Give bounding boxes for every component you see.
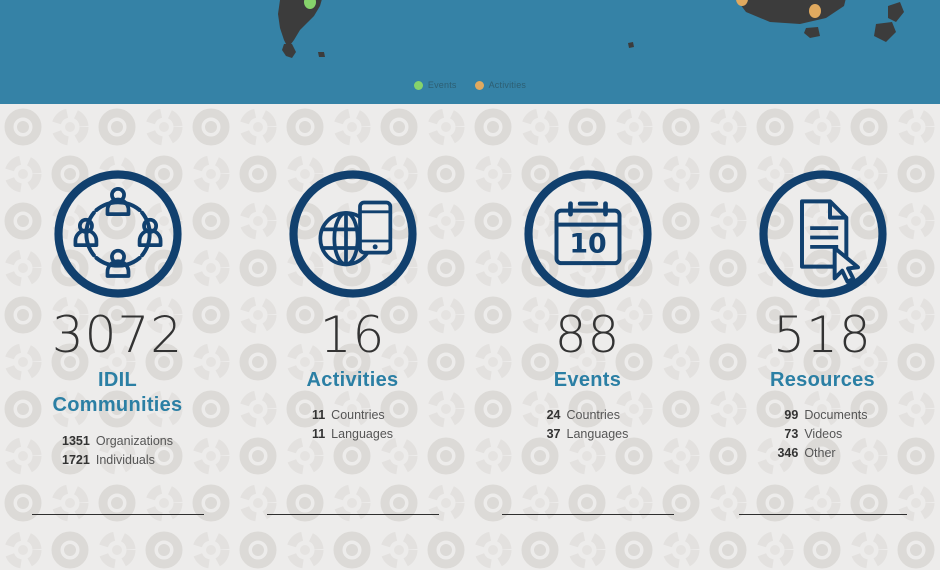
column-divider [502,514,674,515]
stat-card-activities[interactable]: 16 Activities 11 Countries 11 Languages [235,104,470,570]
stat-sub-label: Individuals [96,451,173,470]
stats-dashboard-page: Events Activities [0,0,940,570]
stat-card-idil-communities[interactable]: 3072 IDIL Communities 1351 Organizations… [0,104,235,570]
activity-marker-2 [809,4,821,18]
stat-title: Activities [307,368,399,392]
stat-sub-row: 37 Languages [547,425,629,444]
calendar-day-number: 10 [569,229,606,260]
stat-sub-value: 99 [777,406,804,425]
calendar-icon: 10 [518,164,658,304]
stat-sub-label: Countries [567,406,629,425]
stat-sub-row: 1721 Individuals [62,451,173,470]
stat-sub-value: 1721 [62,451,96,470]
stat-sub-row: 11 Countries [312,406,393,425]
stat-title: Resources [770,368,875,392]
stat-sub-value: 346 [777,444,804,463]
stat-sub-value: 24 [547,406,567,425]
stat-sub-label: Languages [567,425,629,444]
stat-sub-list: 11 Countries 11 Languages [312,406,393,444]
stat-sub-label: Videos [804,425,867,444]
stat-sub-list: 99 Documents 73 Videos 346 Other [777,406,867,463]
stat-title-line-2: Communities [53,393,183,418]
community-network-icon [48,164,188,304]
stat-sub-label: Countries [331,406,393,425]
stat-sub-value: 1351 [62,432,96,451]
stat-sub-label: Languages [331,425,393,444]
stat-sub-row: 24 Countries [547,406,629,425]
stat-sub-value: 73 [777,425,804,444]
stat-sub-row: 1351 Organizations [62,432,173,451]
stat-card-resources[interactable]: 518 Resources 99 Documents 73 Videos 346… [705,104,940,570]
world-map-graphic [0,0,940,104]
stat-title-line-1: IDIL [53,368,183,393]
stat-sub-value: 11 [312,406,331,425]
world-map-band: Events Activities [0,0,940,104]
stat-number: 16 [320,308,386,362]
stat-number: 88 [555,308,621,362]
stat-title: Events [554,368,621,392]
stat-sub-list: 1351 Organizations 1721 Individuals [62,432,173,470]
column-divider [739,514,907,515]
stat-sub-row: 11 Languages [312,425,393,444]
stat-sub-row: 73 Videos [777,425,867,444]
column-divider [32,514,204,515]
stat-sub-value: 37 [547,425,567,444]
column-divider [267,514,439,515]
stat-sub-list: 24 Countries 37 Languages [547,406,629,444]
globe-mobile-icon [283,164,423,304]
stat-sub-value: 11 [312,425,331,444]
stat-sub-row: 99 Documents [777,406,867,425]
stat-sub-label: Other [804,444,867,463]
stat-sub-label: Organizations [96,432,173,451]
stat-sub-row: 346 Other [777,444,867,463]
stat-number: 518 [773,308,871,362]
document-cursor-icon [753,164,893,304]
stats-row: 3072 IDIL Communities 1351 Organizations… [0,104,940,570]
stat-card-events[interactable]: 10 88 Events 24 Countries 37 Languages [470,104,705,570]
stat-number: 3072 [52,308,183,362]
stat-sub-label: Documents [804,406,867,425]
stat-title: IDIL Communities [53,368,183,418]
